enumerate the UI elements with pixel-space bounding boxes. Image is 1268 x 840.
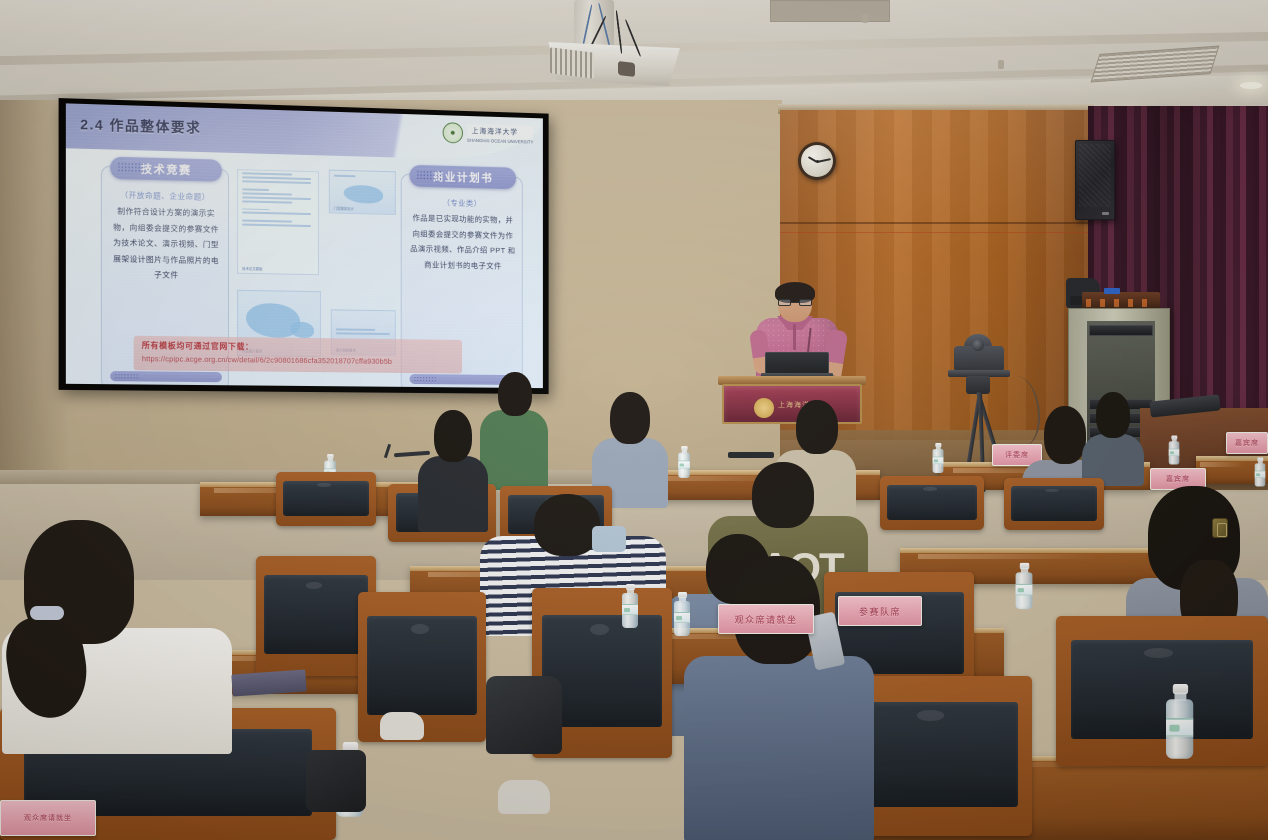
download-note-title: 所有模板均可通过官网下载：: [142, 340, 454, 355]
chair: [1056, 616, 1268, 766]
nameplate-panel: 嘉宾席: [1226, 432, 1268, 454]
wall-seam: [780, 232, 1090, 233]
desk-microphone: [728, 452, 774, 458]
card-heading-text: 商业计划书: [433, 168, 494, 185]
slide-card-technical-body: 制作符合设计方案的演示实物，向组委会提交的参赛文件为技术论文、演示视频、门型展架…: [110, 203, 222, 284]
dot-pattern-icon: [413, 376, 436, 382]
audience-torso: [480, 410, 548, 490]
slide-card-technical-sub: （开放命题、企业命题）: [102, 189, 228, 203]
rack-indicator-icon: [1104, 288, 1120, 294]
clock-center: [816, 160, 819, 163]
presenter-placket: [793, 324, 796, 350]
backpack: [486, 676, 562, 754]
shoe: [380, 712, 424, 740]
clock-minute-hand: [817, 158, 831, 162]
speaker-badge: [1102, 212, 1109, 215]
rack-mounted-unit: [1089, 325, 1153, 336]
ceiling-light: [1240, 82, 1262, 89]
bottled-water: [1016, 563, 1033, 609]
chair: [276, 472, 376, 526]
nameplate-panel: 观众席请就坐: [0, 800, 96, 836]
download-note-url: https://cpipc.acge.org.cn/cw/detail/6/2c…: [142, 354, 454, 366]
slide-download-note: 所有模板均可通过官网下载： https://cpipc.acge.org.cn/…: [134, 336, 462, 374]
list-item: [2, 520, 258, 750]
thumbnail-caption: 门型展架设计: [334, 206, 354, 211]
thumbnail-poster: 门型展架设计: [329, 170, 396, 215]
clock-face: [801, 145, 833, 177]
slide-title: 2.4 作品整体要求: [80, 113, 201, 137]
camera-lens-icon: [972, 339, 984, 351]
thumbnail-text-doc: 技术论文模板: [237, 169, 319, 275]
projector-vent-icon: [550, 47, 594, 78]
rack-knobs-icon: [1086, 299, 1156, 307]
university-name-en: SHANGHAI OCEAN UNIVERSITY: [467, 138, 533, 145]
wall-clock: [798, 142, 836, 180]
nameplate-panel: 观众席请就坐: [718, 604, 814, 634]
slide-card-business-body: 作品是已实现功能的实物，并向组委会提交的参赛文件为作品演示视频、作品介绍 PPT…: [410, 210, 517, 273]
audience-head: [534, 494, 600, 556]
ceiling-mounted-projector: [540, 0, 680, 92]
sprinkler-icon: [862, 14, 868, 23]
nameplate-text: 观众席请就坐: [24, 813, 72, 823]
hair-tie: [30, 606, 64, 620]
audience-head: [610, 392, 650, 444]
dot-pattern-icon: [117, 162, 144, 174]
university-emblem-icon: [754, 398, 774, 418]
thumbnail-caption: 技术论文模板: [242, 266, 262, 271]
projector-lens-icon: [618, 61, 635, 77]
nameplate-text: 参赛队席: [859, 605, 901, 618]
slide-card-business-heading: 商业计划书: [410, 165, 517, 190]
shoe: [498, 780, 550, 814]
nameplate-text: 嘉宾席: [1166, 474, 1190, 484]
sprinkler-icon: [998, 60, 1004, 69]
list-item: [480, 368, 548, 488]
dot-pattern-icon: [114, 373, 139, 379]
audience-head: [752, 462, 814, 528]
dot-pattern-icon: [416, 170, 441, 182]
wall-seam: [780, 222, 1090, 224]
bottled-water: [1169, 435, 1180, 464]
speaker-grille-icon: [1079, 144, 1111, 207]
bottled-water: [622, 584, 638, 628]
bottled-water: [674, 592, 690, 636]
chair: [1004, 478, 1104, 530]
card-footer-bar: [110, 371, 222, 382]
wall-mounted-loudspeaker: [1075, 140, 1115, 220]
university-seal-icon: ✹: [443, 122, 463, 143]
laptop-screen: [765, 352, 829, 374]
audience-torso: [684, 656, 874, 840]
audience-head: [434, 410, 472, 462]
audience-head: [1044, 406, 1086, 464]
bottled-water: [1166, 684, 1193, 759]
nameplate-text: 观众席请就坐: [734, 613, 797, 626]
ceiling-access-panel: [770, 0, 890, 22]
list-item: [418, 408, 488, 528]
audience-head: [1096, 392, 1130, 438]
slide-card-technical-heading: 技术竞赛: [110, 157, 222, 182]
list-item: [592, 390, 668, 500]
hair-clip: [1212, 518, 1228, 538]
backpack: [306, 750, 366, 812]
bottled-water: [1255, 457, 1266, 486]
nameplate-panel: 参赛队席: [838, 596, 922, 626]
card-heading-text: 技术竞赛: [141, 160, 192, 178]
slide-card-business-sub: （专业类）: [402, 196, 522, 210]
audience-head: [796, 400, 838, 454]
list-item: [1082, 390, 1144, 480]
presentation-slide: 2.4 作品整体要求 ✹ 上海海洋大学 SHANGHAI OCEAN UNIVE…: [66, 103, 543, 388]
bottled-water: [678, 446, 690, 478]
chair: [880, 476, 984, 530]
projection-screen: 2.4 作品整体要求 ✹ 上海海洋大学 SHANGHAI OCEAN UNIVE…: [59, 98, 549, 394]
bottled-water: [933, 443, 944, 473]
lecture-hall-photo: 2.4 作品整体要求 ✹ 上海海洋大学 SHANGHAI OCEAN UNIVE…: [0, 0, 1268, 840]
audience-torso: [418, 456, 488, 532]
nameplate-text: 嘉宾席: [1235, 438, 1259, 448]
slide-university-logo: ✹ 上海海洋大学 SHANGHAI OCEAN UNIVERSITY: [443, 122, 534, 145]
eyeglasses-icon: [778, 299, 812, 307]
audience-head: [498, 372, 532, 416]
neck-collar: [592, 526, 626, 552]
